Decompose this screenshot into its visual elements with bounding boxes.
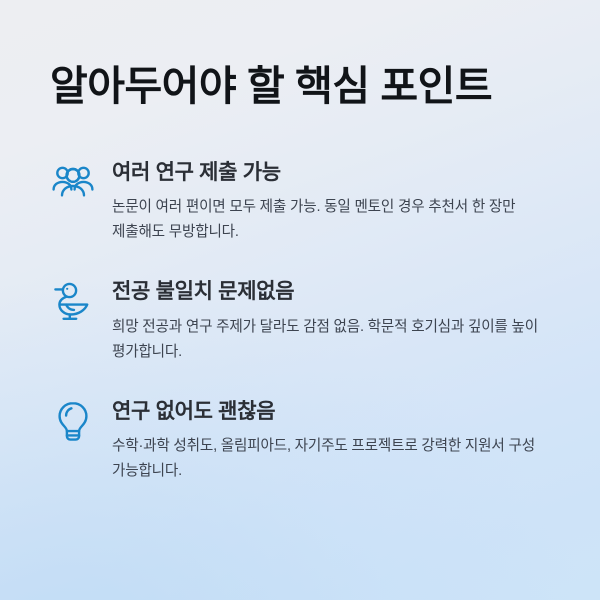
people-group-icon bbox=[50, 162, 96, 208]
info-card: 알아두어야 할 핵심 포인트 여러 연구 제출 가능 논문이 여 bbox=[0, 0, 600, 600]
key-point-item: 전공 불일치 문제없음 희망 전공과 연구 주제가 달라도 감점 없음. 학문적… bbox=[50, 279, 560, 364]
key-point-item: 연구 없어도 괜찮음 수학·과학 성취도, 올림피아드, 자기주도 프로젝트로 … bbox=[50, 399, 560, 484]
key-point-heading: 여러 연구 제출 가능 bbox=[112, 160, 560, 186]
key-point-heading: 전공 불일치 문제없음 bbox=[112, 279, 560, 305]
key-point-heading: 연구 없어도 괜찮음 bbox=[112, 399, 560, 425]
key-points-list: 여러 연구 제출 가능 논문이 여러 편이면 모두 제출 가능. 동일 멘토인 … bbox=[50, 160, 560, 484]
page-title: 알아두어야 할 핵심 포인트 bbox=[50, 62, 492, 110]
key-point-body: 논문이 여러 편이면 모두 제출 가능. 동일 멘토인 경우 추천서 한 장만 … bbox=[112, 195, 560, 245]
lightbulb-icon bbox=[50, 401, 96, 447]
key-point-body: 수학·과학 성취도, 올림피아드, 자기주도 프로젝트로 강력한 지원서 구성 … bbox=[112, 434, 560, 484]
duck-icon bbox=[50, 281, 96, 327]
key-point-body: 희망 전공과 연구 주제가 달라도 감점 없음. 학문적 호기심과 깊이를 높이… bbox=[112, 315, 560, 365]
key-point-item: 여러 연구 제출 가능 논문이 여러 편이면 모두 제출 가능. 동일 멘토인 … bbox=[50, 160, 560, 245]
